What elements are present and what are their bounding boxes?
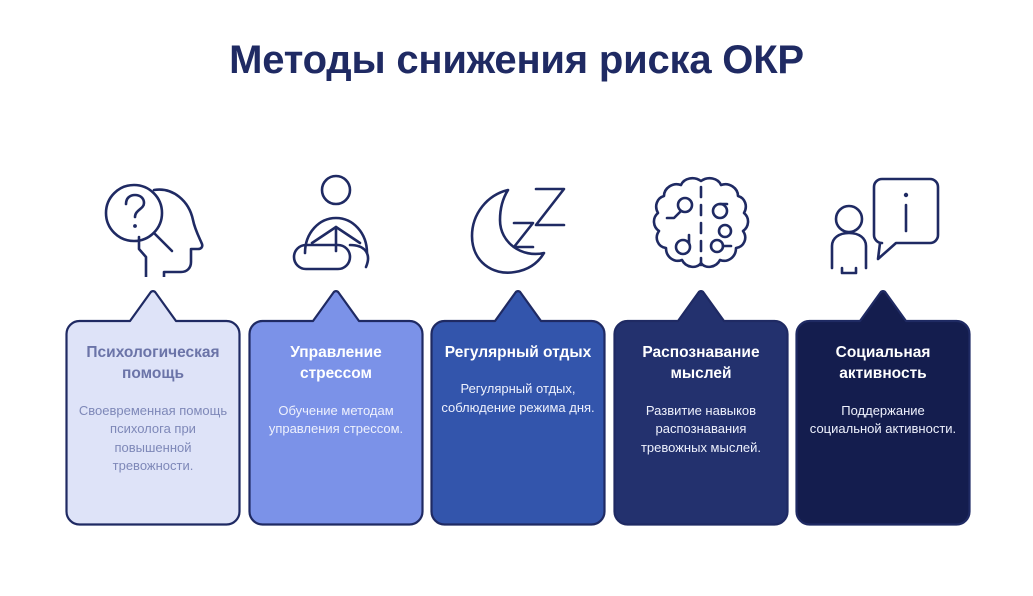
- card-3-description: Регулярный отдых, соблюдение режима дня.: [441, 380, 595, 417]
- icon-head-question-magnifier: [64, 160, 242, 290]
- card-2-description: Обучение методам управления стрессом.: [259, 402, 413, 439]
- icon-brain-circuit: [612, 160, 790, 290]
- card-1-body: Психологическая помощь Своевременная пом…: [64, 312, 242, 527]
- card-1-description: Своевременная помощь психолога при повыш…: [76, 402, 230, 476]
- infographic-root: Методы снижения риска ОКР П: [0, 0, 1033, 596]
- card-2[interactable]: Управление стрессом Обучение методам упр…: [247, 290, 425, 527]
- card-4[interactable]: Распознавание мыслей Развитие навыков ра…: [612, 290, 790, 527]
- card-5[interactable]: Социальная активность Поддержание социал…: [794, 290, 972, 527]
- card-column-5: Социальная активность Поддержание социал…: [794, 160, 972, 527]
- card-1-title: Психологическая помощь: [76, 342, 230, 385]
- card-2-body: Управление стрессом Обучение методам упр…: [247, 312, 425, 527]
- icon-person-meditating: [247, 160, 425, 290]
- icon-moon-sleep-zzz: [429, 160, 607, 290]
- card-3[interactable]: Регулярный отдых Регулярный отдых, соблю…: [429, 290, 607, 527]
- card-2-title: Управление стрессом: [259, 342, 413, 385]
- page-title: Методы снижения риска ОКР: [0, 38, 1033, 83]
- card-column-4: Распознавание мыслей Развитие навыков ра…: [612, 160, 790, 527]
- card-5-body: Социальная активность Поддержание социал…: [794, 312, 972, 527]
- card-column-3: Регулярный отдых Регулярный отдых, соблю…: [429, 160, 607, 527]
- card-1[interactable]: Психологическая помощь Своевременная пом…: [64, 290, 242, 527]
- card-4-body: Распознавание мыслей Развитие навыков ра…: [612, 312, 790, 527]
- icon-person-speech-bubble-info: [794, 160, 972, 290]
- card-5-description: Поддержание социальной активности.: [806, 402, 960, 439]
- card-4-title: Распознавание мыслей: [624, 342, 778, 385]
- card-column-2: Управление стрессом Обучение методам упр…: [247, 160, 425, 527]
- card-3-title: Регулярный отдых: [441, 342, 595, 363]
- card-5-title: Социальная активность: [806, 342, 960, 385]
- card-3-body: Регулярный отдых Регулярный отдых, соблю…: [429, 312, 607, 527]
- card-4-description: Развитие навыков распознавания тревожных…: [624, 402, 778, 457]
- card-column-1: Психологическая помощь Своевременная пом…: [64, 160, 242, 527]
